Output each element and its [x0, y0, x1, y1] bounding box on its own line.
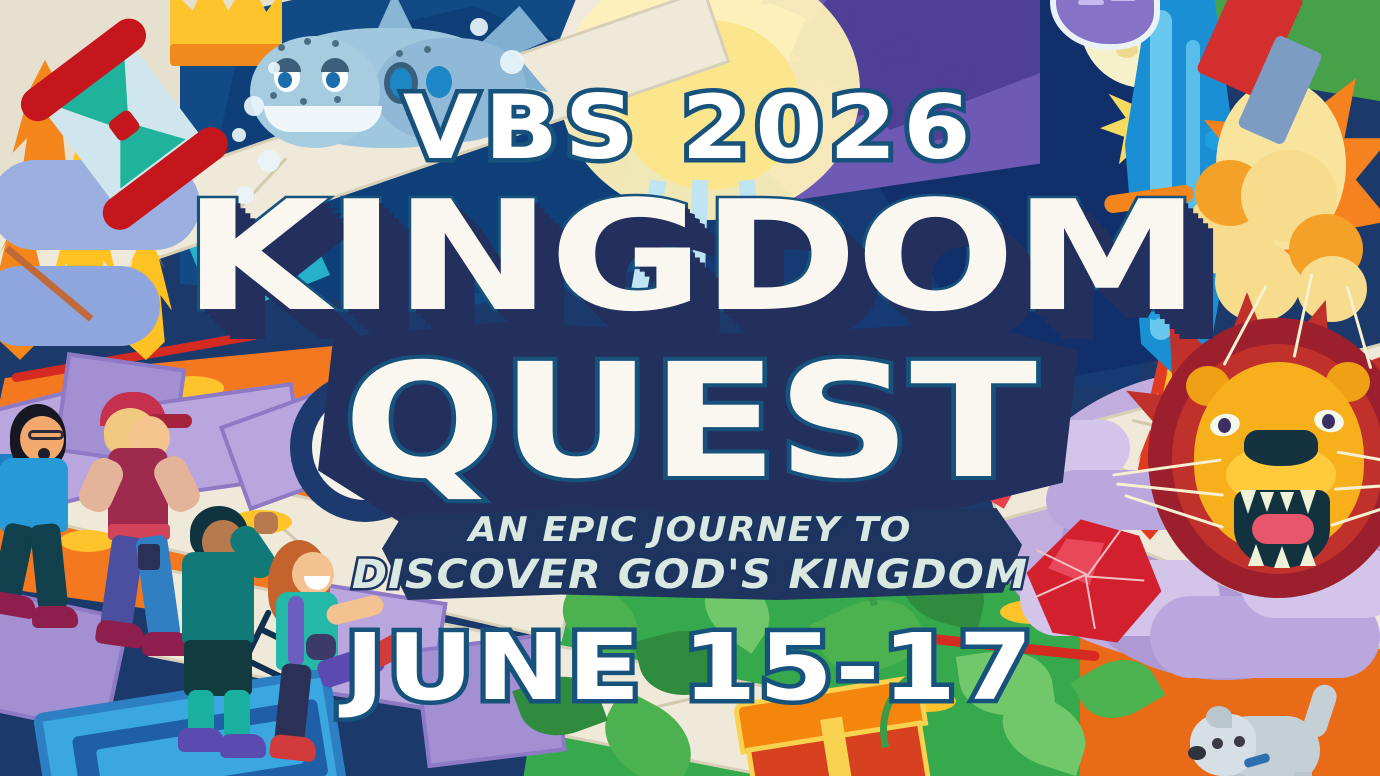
- target-circle-center: [336, 418, 394, 476]
- backpack-pouch: [306, 634, 336, 660]
- dog-nose: [1188, 746, 1206, 760]
- bubble: [232, 128, 246, 142]
- confetti-triangle: [700, 472, 728, 502]
- bubble: [500, 50, 524, 74]
- lion-nose: [1244, 430, 1318, 466]
- leg: [224, 690, 250, 740]
- gem-body: [1018, 506, 1170, 658]
- bubble: [258, 150, 280, 172]
- torso: [182, 552, 254, 644]
- torso: [0, 458, 68, 532]
- whale-mouth: [264, 106, 382, 132]
- bubble: [516, 104, 532, 120]
- dog-ear: [1206, 706, 1232, 728]
- shoe: [95, 619, 146, 649]
- ruby-gem-icon: [1018, 506, 1170, 658]
- smoke-cloud: [1185, 150, 1375, 330]
- hand: [254, 512, 278, 534]
- lion-tongue: [1252, 514, 1314, 544]
- pocket: [138, 544, 160, 570]
- glasses: [28, 430, 64, 440]
- vbs-poster: VBS 2026 KINGDOM QUEST AN EPIC JOURNEY T…: [0, 0, 1380, 776]
- adventurer-kid: [262, 540, 402, 770]
- confetti-square: [616, 478, 650, 512]
- bubble: [470, 18, 488, 36]
- backpack-strap: [288, 596, 304, 666]
- whale-eye-spot: [426, 66, 452, 98]
- confetti-square: [757, 483, 787, 513]
- bubble: [236, 186, 254, 204]
- background-artwork: [0, 0, 1380, 776]
- confetti-triangle: [824, 468, 848, 496]
- shorts: [184, 640, 252, 696]
- cloud: [1010, 420, 1130, 476]
- shoe: [32, 606, 78, 628]
- shoe: [269, 734, 317, 763]
- water-stream: [1150, 10, 1172, 340]
- shoe: [178, 728, 224, 752]
- whale-eye-spot: [390, 68, 412, 98]
- shoe: [220, 734, 266, 758]
- confetti-triangle: [470, 480, 498, 510]
- confetti-triangle: [900, 470, 928, 500]
- bubble: [268, 62, 280, 74]
- whale-icon: [256, 10, 536, 180]
- leg: [30, 523, 69, 612]
- roaring-lion: [1148, 318, 1380, 608]
- bubble: [244, 96, 264, 116]
- confetti-triangle: [544, 470, 568, 496]
- dog-icon: [1190, 690, 1340, 776]
